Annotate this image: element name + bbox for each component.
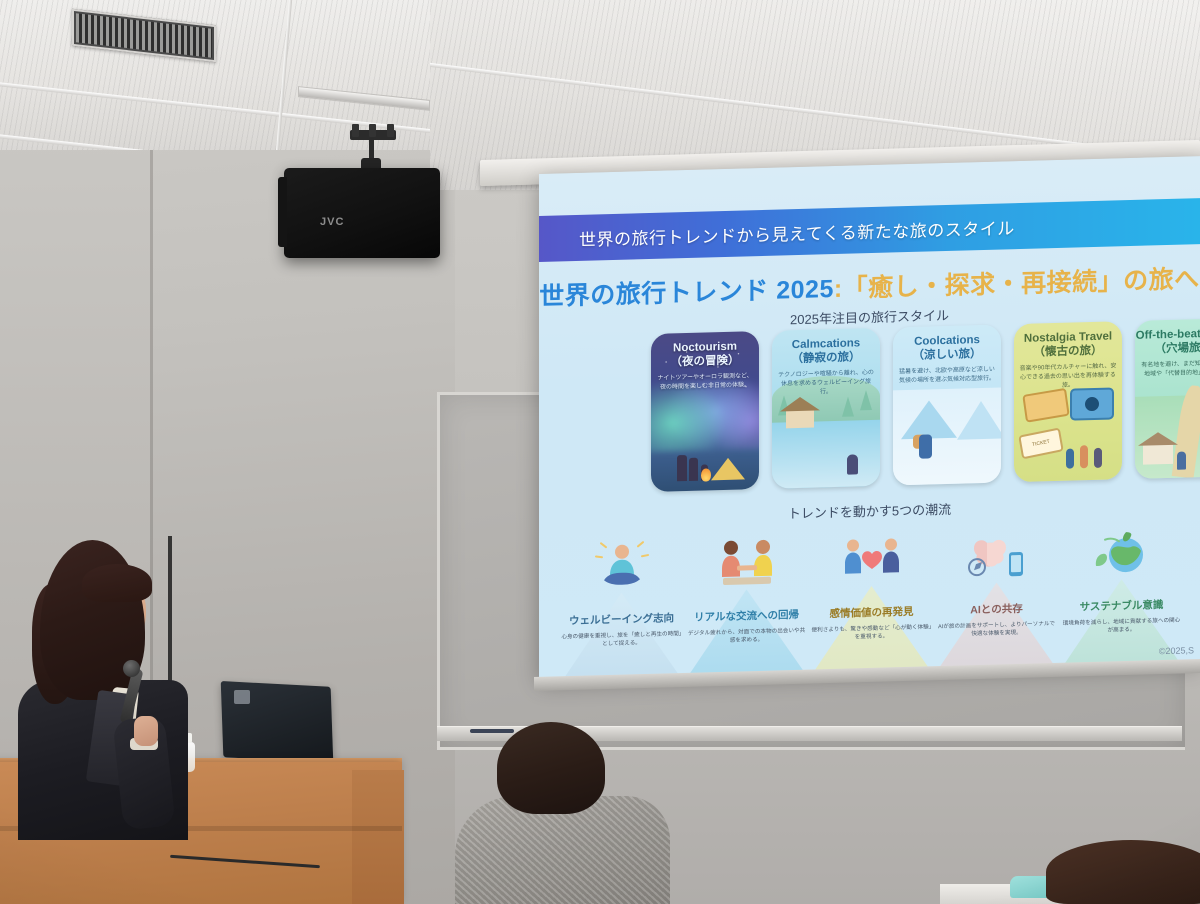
presenter-hand xyxy=(134,716,158,746)
dancer-figure-icon xyxy=(1094,448,1102,468)
pine-tree-icon xyxy=(842,397,854,417)
meditation-icon xyxy=(592,538,652,598)
campfire-icon xyxy=(701,468,711,481)
hiker-icon xyxy=(919,434,932,458)
trend-item: 感情価値の再発見 便利さよりも、驚きや感動など「心が動く体験」を重視する。 xyxy=(809,528,934,651)
travel-style-card: Off-the-beaten-path（穴場旅行） 有名地を避け、まだ知られてい… xyxy=(1135,318,1200,479)
card-title: Coolcations（涼しい旅） xyxy=(893,332,1001,364)
heart-emotion-icon xyxy=(842,531,902,591)
sustainability-globe-icon xyxy=(1092,524,1152,584)
travel-style-card: Noctourism（夜の冒険） ナイトツアーやオーロラ観測など、夜の時間を楽し… xyxy=(651,331,759,492)
cabin-icon xyxy=(786,410,814,429)
person-figure-icon xyxy=(1177,451,1186,469)
slide-header-bar: 世界の旅行トレンドから見えてくる新たな旅のスタイル xyxy=(539,198,1200,262)
ai-brain-icon xyxy=(967,528,1027,588)
trend-name: AIとの共存 xyxy=(934,600,1059,618)
trend-description: 便利さよりも、驚きや感動など「心が動く体験」を重視する。 xyxy=(811,623,932,644)
card-description: テクノロジーや喧騒から離れ、心の休息を求めるウェルビーイング旅行。 xyxy=(777,369,875,399)
travel-style-card-list: Noctourism（夜の冒険） ナイトツアーやオーロラ観測など、夜の時間を楽し… xyxy=(651,318,1200,494)
slide-header-text: 世界の旅行トレンドから見えてくる新たな旅のスタイル xyxy=(579,214,1015,251)
card-description: 猛暑を避け、北欧や高原など涼しい気候の場所を選ぶ気候対応型旅行。 xyxy=(898,366,996,387)
trend-name: リアルな交流への回帰 xyxy=(684,607,809,625)
travel-style-card: Calmcations（静寂の旅） テクノロジーや喧騒から離れ、心の休息を求める… xyxy=(772,328,880,489)
presenter xyxy=(10,540,205,800)
camera-icon xyxy=(1070,387,1114,420)
card-description: 有名地を避け、まだ知られていない地域や「代替目的地」を旅する。 xyxy=(1140,359,1200,380)
cassette-tape-icon xyxy=(1022,388,1069,423)
handshake-icon xyxy=(717,535,777,595)
card-title: Off-the-beaten-path（穴場旅行） xyxy=(1135,326,1200,358)
travel-style-card: Coolcations（涼しい旅） 猛暑を避け、北欧や高原など涼しい気候の場所を… xyxy=(893,324,1001,485)
audience-member-front xyxy=(455,722,670,904)
audience-head xyxy=(497,722,605,814)
jvc-speaker: JVC xyxy=(284,168,440,258)
projection-screen: 世界の旅行トレンドから見えてくる新たな旅のスタイル 世界の旅行トレンド 2025… xyxy=(539,156,1200,679)
podium-right-face xyxy=(352,770,404,904)
slide-content: 世界の旅行トレンドから見えてくる新たな旅のスタイル 世界の旅行トレンド 2025… xyxy=(539,156,1200,679)
jvc-logo: JVC xyxy=(320,216,344,228)
person-figure-icon xyxy=(677,455,687,481)
trend-name: ウェルビーイング志向 xyxy=(559,610,684,628)
trend-description: デジタル疲れから、対面での本物の出会いや共感を求める。 xyxy=(686,626,807,647)
microphone-head-icon xyxy=(123,660,140,677)
card-title: Calmcations（静寂の旅） xyxy=(772,336,880,368)
trend-name: 感情価値の再発見 xyxy=(809,603,934,621)
house-icon xyxy=(1143,444,1173,465)
trend-name: サステナブル意識 xyxy=(1059,597,1184,615)
trend-item: ウェルビーイング志向 心身の健康を重視し、旅を「癒しと再生の時間」として捉える。 xyxy=(559,535,684,658)
tent-icon xyxy=(711,457,745,480)
laptop-logo xyxy=(234,690,250,704)
trend-description: 心身の健康を重視し、旅を「癒しと再生の時間」として捉える。 xyxy=(561,630,682,651)
audience-member-right xyxy=(1046,840,1200,904)
ticket-icon: TICKET xyxy=(1018,427,1064,459)
travel-style-card: TICKET Nostalgia Travel（懐古の旅） 音楽や90年代カルチ… xyxy=(1014,321,1122,482)
mountain-icon xyxy=(901,400,957,440)
card-title: Nostalgia Travel（懐古の旅） xyxy=(1014,329,1122,361)
slide-title-main: 世界の旅行トレンド 2025 xyxy=(539,275,834,311)
presenter-bangs xyxy=(82,564,152,602)
person-figure-icon xyxy=(847,454,858,474)
trend-item: サステナブル意識 環境負荷を減らし、地域に貢献する旅への関心が高まる。 xyxy=(1059,522,1184,645)
trend-item: リアルな交流への回帰 デジタル疲れから、対面での本物の出会いや共感を求める。 xyxy=(684,532,809,655)
trend-item: AIとの共存 AIが旅の計画をサポートし、よりパーソナルで快適な体験を実現。 xyxy=(934,525,1059,648)
trend-description: 環境負荷を減らし、地域に貢献する旅への関心が高まる。 xyxy=(1061,616,1182,637)
person-figure-icon xyxy=(689,458,698,481)
trend-list: ウェルビーイング志向 心身の健康を重視し、旅を「癒しと再生の時間」として捉える。… xyxy=(559,522,1184,659)
dancer-figure-icon xyxy=(1066,449,1074,469)
card-description: 音楽や90年代カルチャーに触れ、安心できる過去の思い出を再体験する旅。 xyxy=(1019,362,1117,392)
dancer-figure-icon xyxy=(1080,445,1088,468)
card-description: ナイトツアーやオーロラ観測など、夜の時間を楽しむ非日常の体験。 xyxy=(656,372,754,393)
slide-title-sub: :「癒し・探求・再接続」の旅へ xyxy=(834,265,1200,303)
mountain-icon xyxy=(957,400,1001,439)
card-title: Noctourism（夜の冒険） xyxy=(651,339,759,371)
slide-copyright: ©2025,S xyxy=(1159,645,1194,656)
trend-description: AIが旅の計画をサポートし、よりパーソナルで快適な体験を実現。 xyxy=(936,620,1057,641)
lecture-room-photo: JVC 世界の旅行トレンドから見えてくる新たな旅のスタイル 世界の旅行トレンド … xyxy=(0,0,1200,904)
